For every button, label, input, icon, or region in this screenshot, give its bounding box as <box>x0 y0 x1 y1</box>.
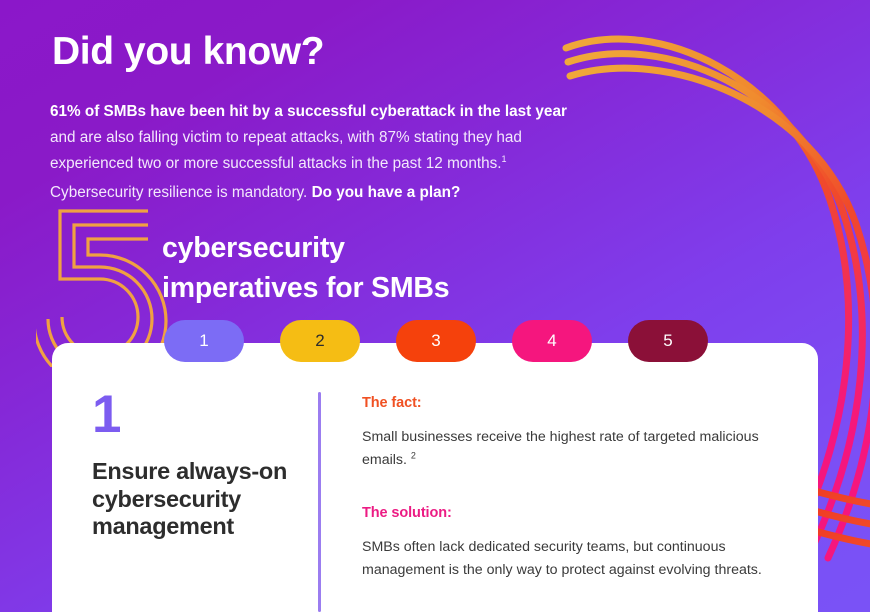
lede-rest: and are also falling victim to repeat at… <box>50 129 522 172</box>
solution-block: The solution: SMBs often lack dedicated … <box>362 505 778 582</box>
step-tab-bar: 1 2 3 4 5 <box>164 320 708 362</box>
cta-bold-text: Do you have a plan? <box>312 184 461 201</box>
fact-body: Small businesses receive the highest rat… <box>362 426 778 472</box>
fact-kicker: The fact: <box>362 395 778 411</box>
step-summary-column: 1 Ensure always-on cybersecurity managem… <box>52 343 318 612</box>
footnote-marker-1: 1 <box>501 154 506 164</box>
card-vertical-divider <box>318 392 321 612</box>
section-title-line-2: imperatives for SMBs <box>162 268 449 308</box>
solution-kicker: The solution: <box>362 505 778 521</box>
cta-normal-text: Cybersecurity resilience is mandatory. <box>50 184 312 201</box>
fact-body-text: Small businesses receive the highest rat… <box>362 429 759 468</box>
step-tab-5[interactable]: 5 <box>628 320 708 362</box>
step-tab-4[interactable]: 4 <box>512 320 592 362</box>
step-detail-card-inner: 1 Ensure always-on cybersecurity managem… <box>52 343 818 612</box>
step-detail-card: 1 Ensure always-on cybersecurity managem… <box>52 343 818 612</box>
step-tab-5-label: 5 <box>663 331 672 351</box>
footnote-marker-2: 2 <box>411 450 416 460</box>
section-title: cybersecurity imperatives for SMBs <box>162 228 449 308</box>
section-title-line-1: cybersecurity <box>162 228 449 268</box>
lede-bold-stat: 61% of SMBs have been hit by a successfu… <box>50 103 567 120</box>
step-tab-1[interactable]: 1 <box>164 320 244 362</box>
step-detail-column: The fact: Small businesses receive the h… <box>318 343 818 612</box>
cta-paragraph: Cybersecurity resilience is mandatory. D… <box>50 182 610 204</box>
step-tab-1-label: 1 <box>199 331 208 351</box>
step-tab-3-label: 3 <box>431 331 440 351</box>
lede-paragraph: 61% of SMBs have been hit by a successfu… <box>50 99 595 177</box>
step-tab-2[interactable]: 2 <box>280 320 360 362</box>
step-tab-3[interactable]: 3 <box>396 320 476 362</box>
step-tab-2-label: 2 <box>315 331 324 351</box>
solution-body: SMBs often lack dedicated security teams… <box>362 536 778 582</box>
page-headline: Did you know? <box>52 30 324 74</box>
fact-block: The fact: Small businesses receive the h… <box>362 395 778 472</box>
step-number: 1 <box>92 388 318 441</box>
step-tab-4-label: 4 <box>547 331 556 351</box>
step-title: Ensure always-on cybersecurity managemen… <box>92 458 307 541</box>
infographic-stage: Did you know? 61% of SMBs have been hit … <box>0 0 870 612</box>
